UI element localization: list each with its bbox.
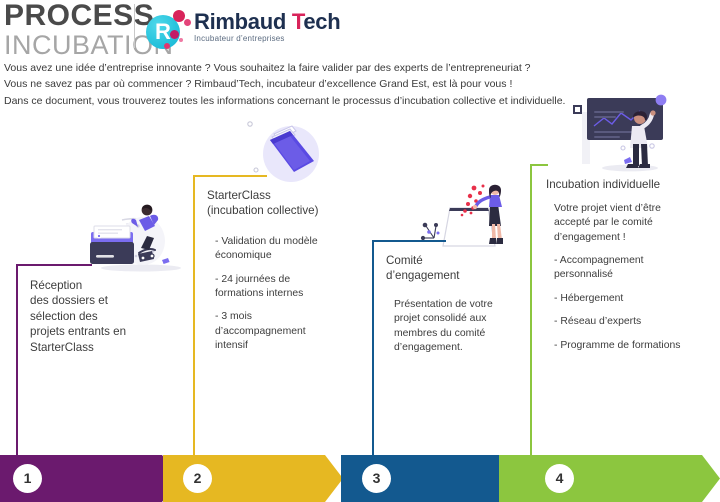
bracket-left [193, 175, 195, 460]
step-chevron-bar: 1 2 3 4 [0, 455, 720, 502]
heading-line: Incubation individuelle [546, 177, 718, 192]
chevron-number-2: 2 [183, 464, 212, 493]
heading-line: des dossiers et [30, 293, 176, 308]
chevron-step-3[interactable]: 3 [341, 455, 521, 502]
bracket-top [16, 264, 92, 266]
heading-line: StarterClass [207, 188, 357, 203]
logo-name-part1: Rimbaud [194, 9, 292, 34]
logo-name-part3: ech [303, 9, 340, 34]
logo-name: Rimbaud Tech [194, 10, 340, 33]
step-column-4: Incubation individuelle Votre projet vie… [530, 164, 716, 460]
heading-line: sélection des [30, 309, 176, 324]
woman-presenting-illustration [416, 182, 520, 248]
heading-line: StarterClass [30, 340, 176, 355]
body-item: - Validation du modèle économique [215, 235, 355, 264]
bracket-left [372, 240, 374, 460]
body-item: - Accompagnement personnalisé [554, 254, 720, 283]
logo-tagline: Incubateur d’entreprises [194, 34, 340, 43]
heading-line: projets entrants en [30, 324, 176, 339]
logo-dot-icon [179, 38, 183, 42]
body-item: - Programme de formations [554, 339, 720, 353]
body-item: - 24 journées de formations internes [215, 273, 355, 302]
logo-dot-icon [170, 30, 179, 39]
infographic-root: PROCESS INCUBATION R Rimbaud Tech Incuba… [0, 0, 720, 502]
step-2-heading: StarterClass (incubation collective) [207, 188, 357, 219]
body-item: Présentation de votre projet consolidé a… [394, 298, 534, 355]
intro-line-1: Vous avez une idée d’entreprise innovant… [4, 60, 704, 76]
body-item: - Réseau d’experts [554, 315, 720, 329]
logo-dot-icon [184, 19, 191, 26]
chevron-number-4: 4 [545, 464, 574, 493]
bracket-top [530, 164, 548, 166]
logo-mark-icon: R [146, 10, 192, 50]
logo-dot-icon [173, 10, 185, 22]
rimbaud-tech-logo: R Rimbaud Tech Incubateur d’entreprises [146, 4, 321, 52]
step-column-3: Comité d’engagement Présentation de votr… [372, 240, 530, 460]
step-column-1: Réception des dossiers et sélection des … [16, 264, 176, 460]
man-presentation-board-illustration [566, 86, 686, 174]
chevron-step-2[interactable]: 2 [163, 455, 343, 502]
bracket-left [16, 264, 18, 460]
heading-line: Comité [386, 253, 532, 268]
chevron-number-3: 3 [362, 464, 391, 493]
chevron-step-4[interactable]: 4 [499, 455, 720, 502]
chevron-step-1[interactable]: 1 [0, 455, 180, 502]
logo-wordmark: Rimbaud Tech Incubateur d’entreprises [194, 10, 340, 43]
step-1-heading: Réception des dossiers et sélection des … [30, 278, 176, 355]
step-column-2: StarterClass (incubation collective) - V… [193, 175, 353, 460]
body-item: - 3 mois d’accompagnement intensif [215, 310, 355, 353]
heading-line: (incubation collective) [207, 203, 357, 218]
heading-line: d’engagement [386, 268, 532, 283]
header-divider [134, 4, 135, 48]
step-3-heading: Comité d’engagement [386, 253, 532, 284]
body-item: - Hébergement [554, 292, 720, 306]
step-4-body: Votre projet vient d’être accepté par le… [554, 202, 720, 353]
bracket-left [530, 164, 532, 460]
printer-person-illustration [86, 196, 186, 274]
body-item: Votre projet vient d’être accepté par le… [554, 202, 720, 245]
step-4-heading: Incubation individuelle [546, 177, 718, 192]
step-2-body: - Validation du modèle économique - 24 j… [215, 235, 355, 354]
logo-name-part2: T [292, 9, 304, 34]
bracket-top [193, 175, 267, 177]
bracket-top [372, 240, 446, 242]
logo-dot-icon [164, 43, 170, 49]
header: PROCESS INCUBATION R Rimbaud Tech Incuba… [0, 0, 720, 56]
heading-line: Réception [30, 278, 176, 293]
step-3-body: Présentation de votre projet consolidé a… [394, 298, 534, 355]
chevron-number-1: 1 [13, 464, 42, 493]
